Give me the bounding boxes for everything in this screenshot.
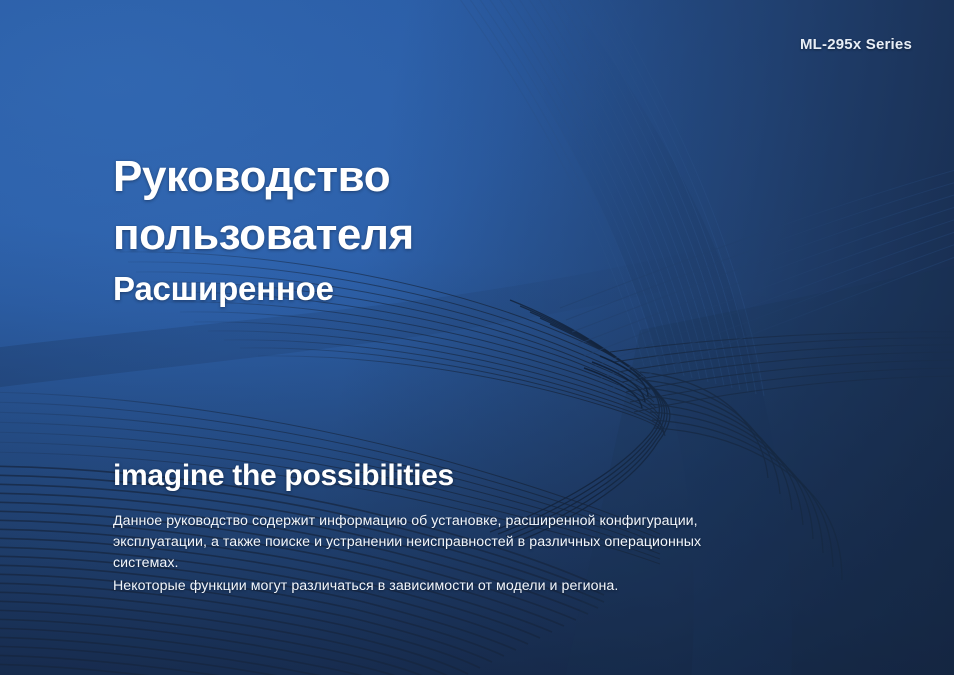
description-line-2: эксплуатации, а также поиске и устранени…: [113, 532, 853, 553]
series-label: ML-295x Series: [800, 36, 912, 53]
description-line-1: Данное руководство содержит информацию о…: [113, 511, 853, 532]
description-block: Данное руководство содержит информацию о…: [113, 511, 853, 597]
manual-cover-page: ML-295x Series Руководство пользователя …: [0, 0, 954, 675]
page-title-line-1: Руководство: [113, 148, 414, 206]
page-subtitle: Расширенное: [113, 266, 414, 312]
description-line-4: Некоторые функции могут различаться в за…: [113, 576, 853, 597]
description-line-3: системах.: [113, 553, 853, 574]
title-block: Руководство пользователя Расширенное: [113, 148, 414, 312]
page-title-line-2: пользователя: [113, 206, 414, 264]
cover-content: ML-295x Series Руководство пользователя …: [0, 0, 954, 675]
brand-tagline: imagine the possibilities: [113, 459, 454, 493]
